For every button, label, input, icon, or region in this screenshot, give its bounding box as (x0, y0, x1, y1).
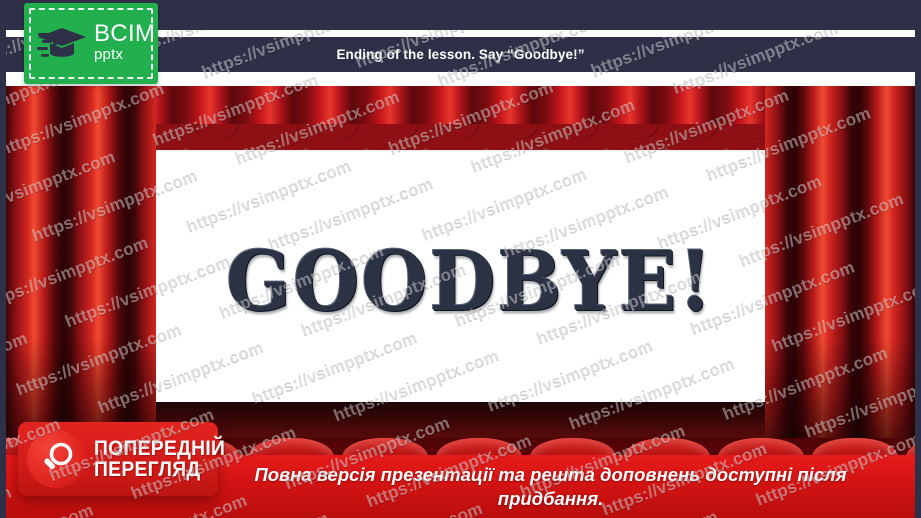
brand-suffix: pptx (94, 46, 155, 65)
preview-label-line2: ПЕРЕГЛЯД (94, 459, 225, 480)
slide-title-area: GOODBYE! (140, 146, 800, 418)
preview-label-line1: ПОПЕРЕДНІЙ (94, 438, 225, 459)
magnifier-icon (27, 430, 85, 488)
slide-viewer: Ending of the lesson. Say “Goodbye!” GOO… (0, 0, 921, 518)
preview-badge-labels: ПОПЕРЕДНІЙ ПЕРЕГЛЯД (94, 438, 237, 481)
preview-badge[interactable]: ПОПЕРЕДНІЙ ПЕРЕГЛЯД (18, 422, 218, 496)
brand-name: BCIM (94, 22, 155, 46)
brand-logo-text: BCIM pptx (94, 22, 155, 65)
curtain-left (6, 86, 156, 458)
brand-logo-badge[interactable]: BCIM pptx (24, 3, 158, 84)
page-title: Ending of the lesson. Say “Goodbye!” (336, 47, 584, 62)
goodbye-title: GOODBYE! (226, 241, 714, 323)
presentation-slide: Ending of the lesson. Say “Goodbye!” GOO… (6, 30, 915, 518)
graduation-cap-icon (36, 20, 92, 68)
